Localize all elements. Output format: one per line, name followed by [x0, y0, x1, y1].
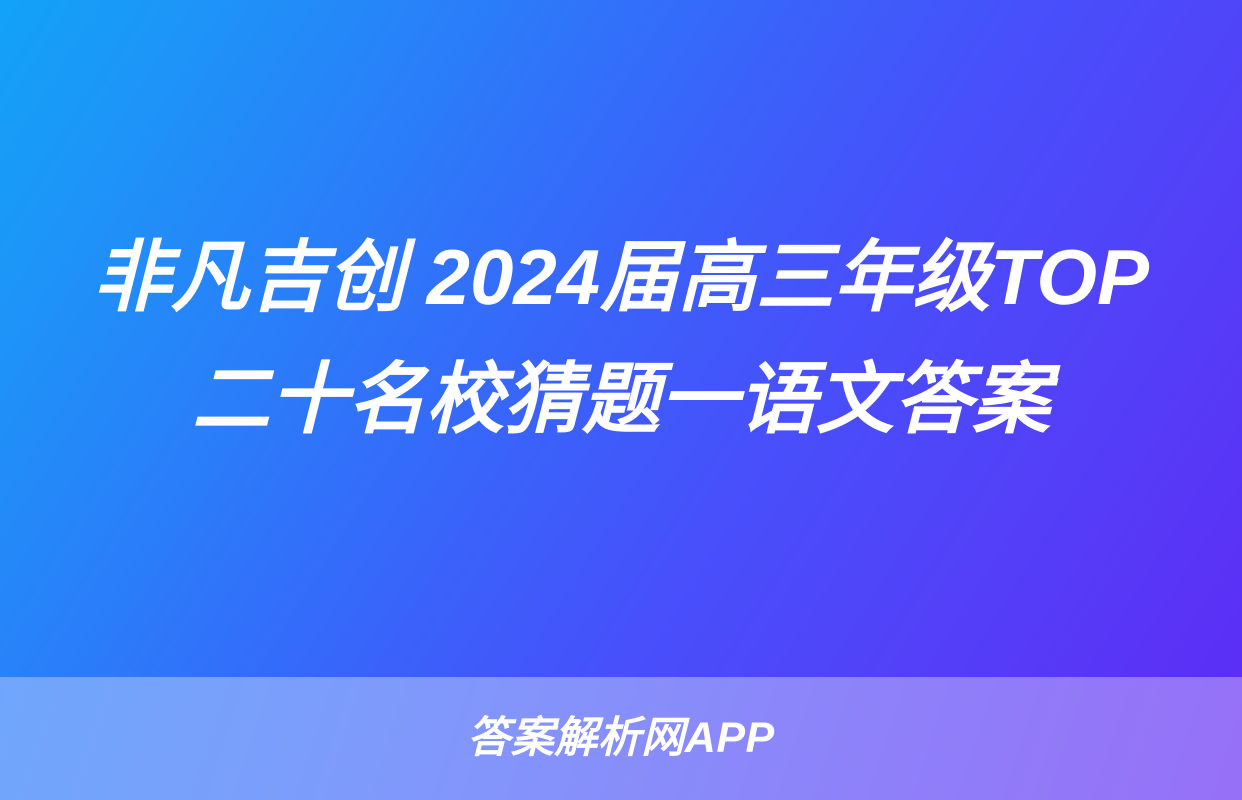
hero-banner: 非凡吉创 2024届高三年级TOP二十名校猜题一语文答案: [0, 0, 1242, 677]
poster-canvas: 非凡吉创 2024届高三年级TOP二十名校猜题一语文答案 答案解析网APP: [0, 0, 1242, 800]
brand-watermark-label: 答案解析网APP: [467, 717, 774, 760]
page-title: 非凡吉创 2024届高三年级TOP二十名校猜题一语文答案: [71, 217, 1171, 460]
footer-watermark-band: 答案解析网APP: [0, 677, 1242, 800]
